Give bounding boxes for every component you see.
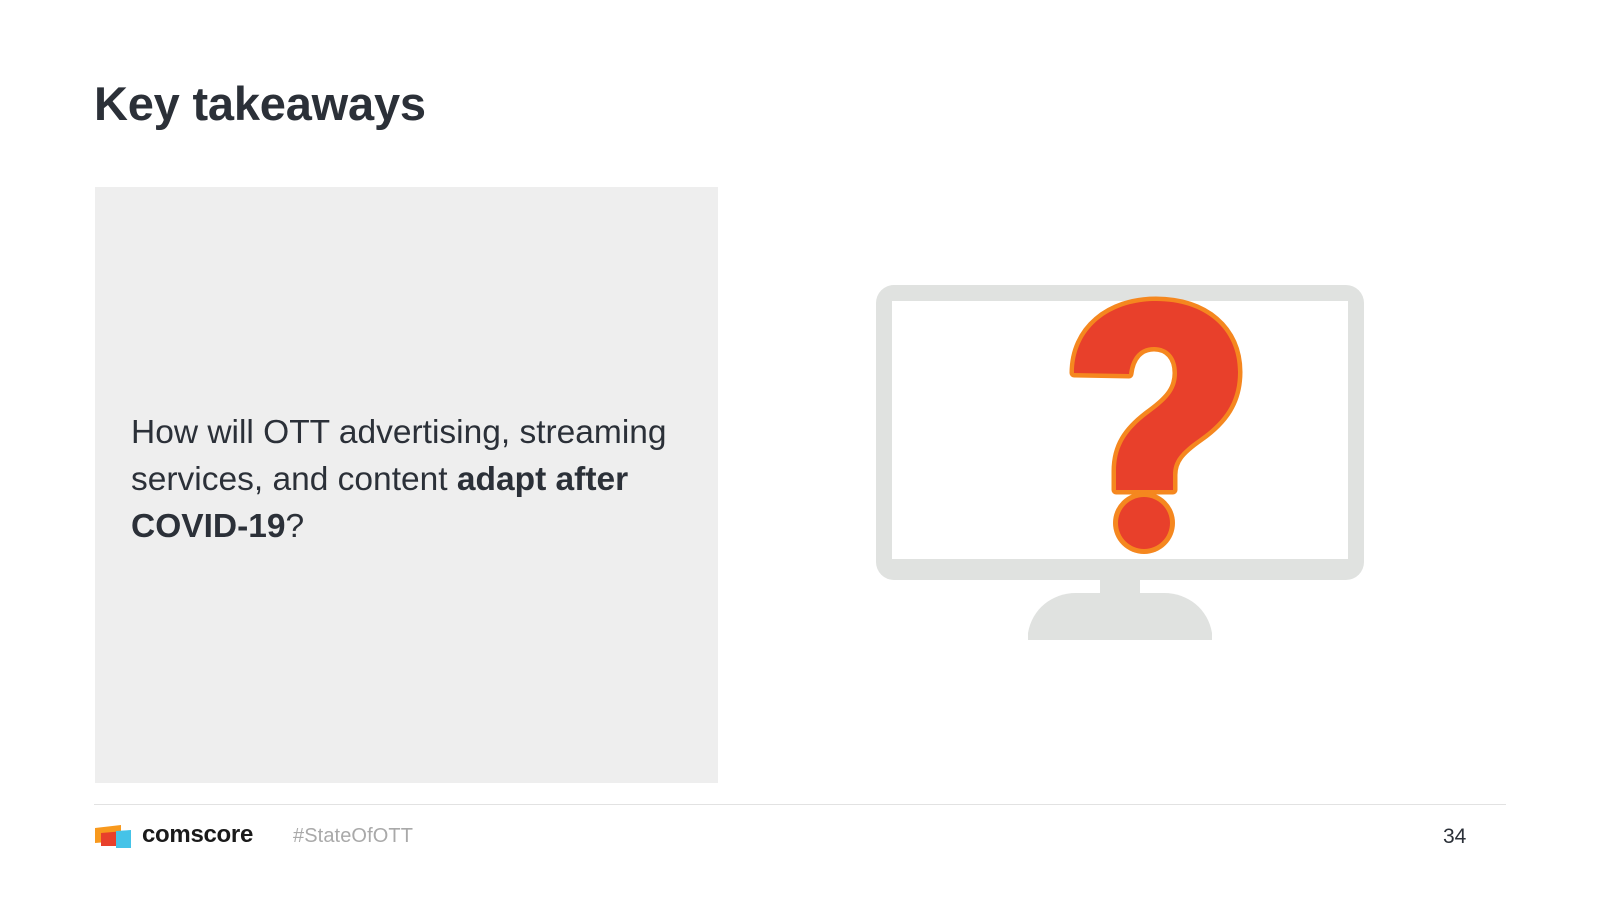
monitor-illustration	[860, 275, 1380, 655]
logo-shape-cyan	[116, 830, 131, 848]
comscore-logo: comscore	[94, 817, 253, 853]
key-question-text: How will OTT advertising, streaming serv…	[131, 409, 706, 550]
slide-canvas: Key takeaways How will OTT advertising, …	[0, 0, 1600, 900]
monitor-base-icon	[1028, 593, 1212, 640]
key-question-panel: How will OTT advertising, streaming serv…	[95, 187, 718, 783]
page-number: 34	[1443, 824, 1466, 849]
page-title: Key takeaways	[94, 76, 426, 132]
comscore-wordmark: comscore	[142, 823, 253, 847]
footer-hashtag: #StateOfOTT	[293, 824, 413, 848]
key-question-tail: ?	[286, 508, 305, 545]
footer-divider	[94, 804, 1506, 805]
monitor-with-question-mark-icon	[860, 275, 1380, 655]
comscore-logo-mark-icon	[94, 821, 132, 849]
